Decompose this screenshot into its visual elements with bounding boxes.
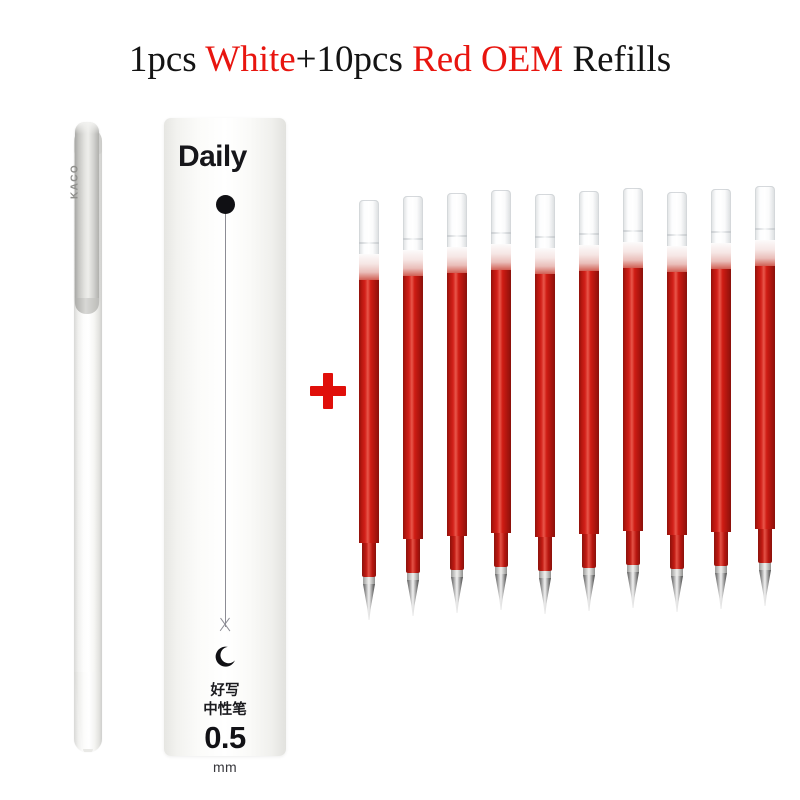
package-tip-unit: mm: [164, 759, 286, 775]
refill-seam: [359, 242, 379, 244]
refill-neck: [758, 529, 772, 563]
refill-ink-meniscus: [359, 254, 379, 280]
refill-neck: [450, 536, 464, 570]
refill-group: [350, 180, 790, 640]
refill-clear-tube: [403, 196, 423, 250]
refill-clear-tube: [667, 192, 687, 246]
refill-ink-meniscus: [711, 243, 731, 269]
refill-ink-column: [447, 273, 467, 536]
refill-neck: [626, 531, 640, 565]
page-title: 1pcs White+10pcs Red OEM Refills: [0, 38, 800, 82]
refill-ink-column: [535, 274, 555, 537]
refill-neck: [406, 539, 420, 573]
refill-seam: [755, 228, 775, 230]
refill-seam: [403, 238, 423, 240]
refill-metal-tip: [539, 578, 551, 614]
refill-metal-tip: [583, 575, 595, 611]
refill-seam: [535, 236, 555, 238]
refill-ink-meniscus: [535, 248, 555, 274]
refill-neck: [582, 534, 596, 568]
refill-ink-meniscus: [403, 250, 423, 276]
down-arrow-shaft: [225, 214, 226, 627]
title-segment: White: [205, 39, 295, 80]
package-box: Daily 好写 中性笔 0.5 mm: [164, 118, 286, 756]
refill-seam: [447, 235, 467, 237]
refill-ink-column: [623, 268, 643, 531]
refill-seam: [579, 233, 599, 235]
refill-seam: [491, 232, 511, 234]
refill-collar: [363, 577, 375, 584]
refill-clear-tube: [579, 191, 599, 245]
title-segment: Refills: [563, 39, 671, 80]
package-chinese-line-2: 中性笔: [164, 701, 286, 720]
refill-clear-tube: [359, 200, 379, 254]
refill-metal-tip: [759, 570, 771, 606]
refill-neck: [538, 537, 552, 571]
title-segment: +10pcs: [296, 39, 412, 80]
refill-ink-meniscus: [667, 246, 687, 272]
refill-metal-tip: [407, 580, 419, 616]
refill-collar: [539, 571, 551, 578]
refill-ink-column: [755, 266, 775, 529]
package-tip-size: 0.5: [164, 720, 286, 756]
refill-seam: [667, 234, 687, 236]
refill-neck: [362, 543, 376, 577]
refill-metal-tip: [451, 577, 463, 613]
refill-ink-meniscus: [579, 245, 599, 271]
refill-metal-tip: [627, 572, 639, 608]
package-brand-label: Daily: [178, 140, 247, 174]
refill-ink-column: [579, 271, 599, 534]
refill-metal-tip: [363, 584, 375, 620]
refill-collar: [451, 570, 463, 577]
refill-clear-tube: [447, 193, 467, 247]
refill-clear-tube: [491, 190, 511, 244]
refill-ink-meniscus: [755, 240, 775, 266]
refill-ink-meniscus: [447, 247, 467, 273]
refill-collar: [407, 573, 419, 580]
refill-ink-column: [403, 276, 423, 539]
refill-ink-column: [667, 272, 687, 535]
refill-collar: [495, 567, 507, 574]
title-segment: Red OEM: [412, 39, 563, 80]
title-segment: 1pcs: [129, 39, 205, 80]
refill-clear-tube: [711, 189, 731, 243]
refill-ink-column: [711, 269, 731, 532]
refill-collar: [715, 566, 727, 573]
refill-ink-meniscus: [491, 244, 511, 270]
package-chinese-line-1: 好写: [164, 682, 286, 701]
plus-icon: [310, 373, 346, 409]
crescent-moon-icon: [214, 646, 236, 668]
down-arrow-icon: [219, 618, 231, 632]
refill-collar: [671, 569, 683, 576]
refill-ink-column: [491, 270, 511, 533]
refill-neck: [494, 533, 508, 567]
refill-clear-tube: [623, 188, 643, 242]
refill-seam: [711, 231, 731, 233]
refill-metal-tip: [495, 574, 507, 610]
refill-metal-tip: [715, 573, 727, 609]
refill-metal-tip: [671, 576, 683, 612]
refill-clear-tube: [535, 194, 555, 248]
refill-collar: [583, 568, 595, 575]
refill-ink-column: [359, 280, 379, 543]
package-chinese-text: 好写 中性笔: [164, 682, 286, 720]
refill-ink-meniscus: [623, 242, 643, 268]
refill-clear-tube: [755, 186, 775, 240]
refill-collar: [627, 565, 639, 572]
white-pen: KACO: [62, 120, 122, 760]
filled-circle-icon: [216, 195, 235, 214]
pen-brand-label: KACO: [70, 147, 81, 217]
refill-collar: [759, 563, 771, 570]
refill-seam: [623, 230, 643, 232]
refill-neck: [670, 535, 684, 569]
refill-neck: [714, 532, 728, 566]
